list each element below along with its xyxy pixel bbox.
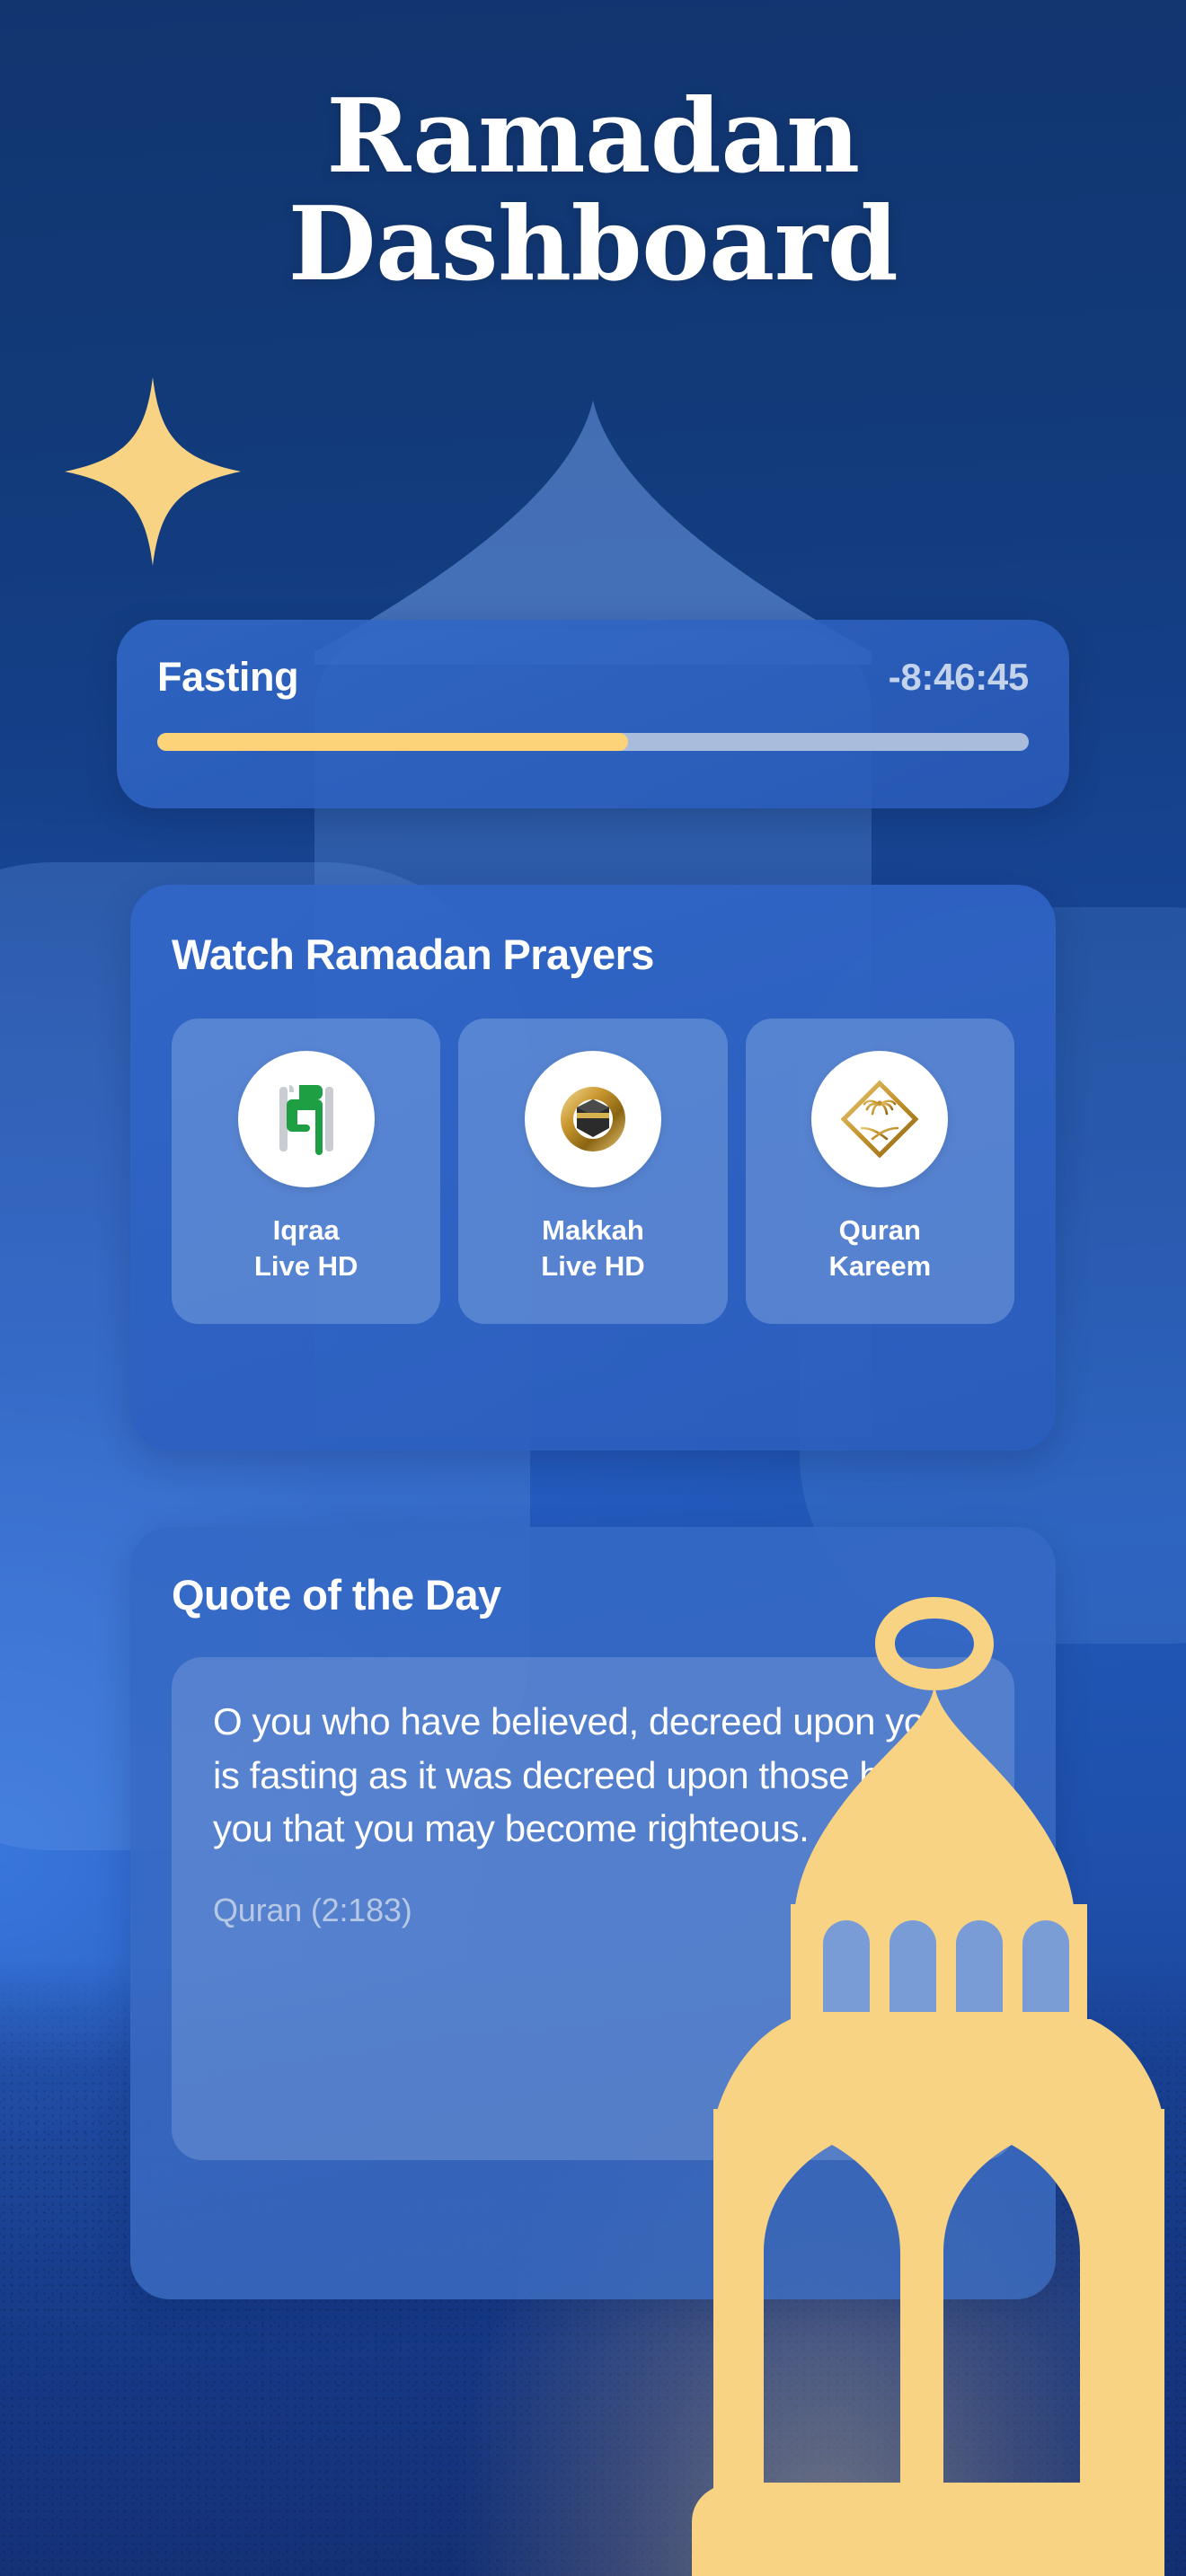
fasting-progress-fill [157, 733, 628, 751]
quote-text: O you who have believed, decreed upon yo… [213, 1695, 973, 1856]
channel-list: Iqraa Live HD [172, 1019, 1014, 1324]
channel-tile-iqraa[interactable]: Iqraa Live HD [172, 1019, 440, 1324]
page-title-line1: Ramadan [0, 83, 1186, 190]
fasting-progress-track[interactable] [157, 733, 1029, 751]
page-title-line2: Dashboard [0, 190, 1186, 298]
fasting-countdown-timer: -8:46:45 [889, 656, 1029, 699]
channel-name-line1: Quran [828, 1213, 931, 1248]
fasting-header-row: Fasting -8:46:45 [157, 654, 1029, 701]
quran-kareem-logo-badge [811, 1051, 948, 1187]
iqraa-logo-badge [238, 1051, 375, 1187]
quran-kareem-emblem-icon [833, 1072, 926, 1166]
quote-of-the-day-card: Quote of the Day O you who have believed… [130, 1527, 1056, 2299]
channel-name-line2: Live HD [541, 1248, 644, 1284]
makkah-logo-badge [525, 1051, 661, 1187]
fasting-label: Fasting [157, 654, 298, 701]
quote-box: O you who have believed, decreed upon yo… [172, 1657, 1014, 2160]
channel-tile-quran-kareem[interactable]: Quran Kareem [746, 1019, 1014, 1324]
channel-name-iqraa: Iqraa Live HD [254, 1213, 358, 1285]
fasting-card[interactable]: Fasting -8:46:45 [117, 620, 1069, 808]
channel-name-makkah: Makkah Live HD [541, 1213, 644, 1285]
channel-name-line1: Makkah [541, 1213, 644, 1248]
iqraa-logo-icon [260, 1072, 353, 1166]
channel-tile-makkah[interactable]: Makkah Live HD [458, 1019, 727, 1324]
makkah-kaaba-logo-icon [546, 1072, 640, 1166]
channel-name-quran-kareem: Quran Kareem [828, 1213, 931, 1285]
watch-prayers-title: Watch Ramadan Prayers [172, 930, 1014, 979]
channel-name-line2: Live HD [254, 1248, 358, 1284]
app-screen: Ramadan Dashboard Fasting -8:46:45 Watch… [0, 0, 1186, 2576]
page-header: Ramadan Dashboard [0, 83, 1186, 298]
four-point-star-sparkle-icon [65, 377, 241, 566]
channel-name-line1: Iqraa [254, 1213, 358, 1248]
channel-name-line2: Kareem [828, 1248, 931, 1284]
watch-prayers-card: Watch Ramadan Prayers Iqraa Live HD [130, 885, 1056, 1451]
quote-source: Quran (2:183) [213, 1892, 973, 1929]
quote-card-title: Quote of the Day [172, 1570, 1014, 1619]
